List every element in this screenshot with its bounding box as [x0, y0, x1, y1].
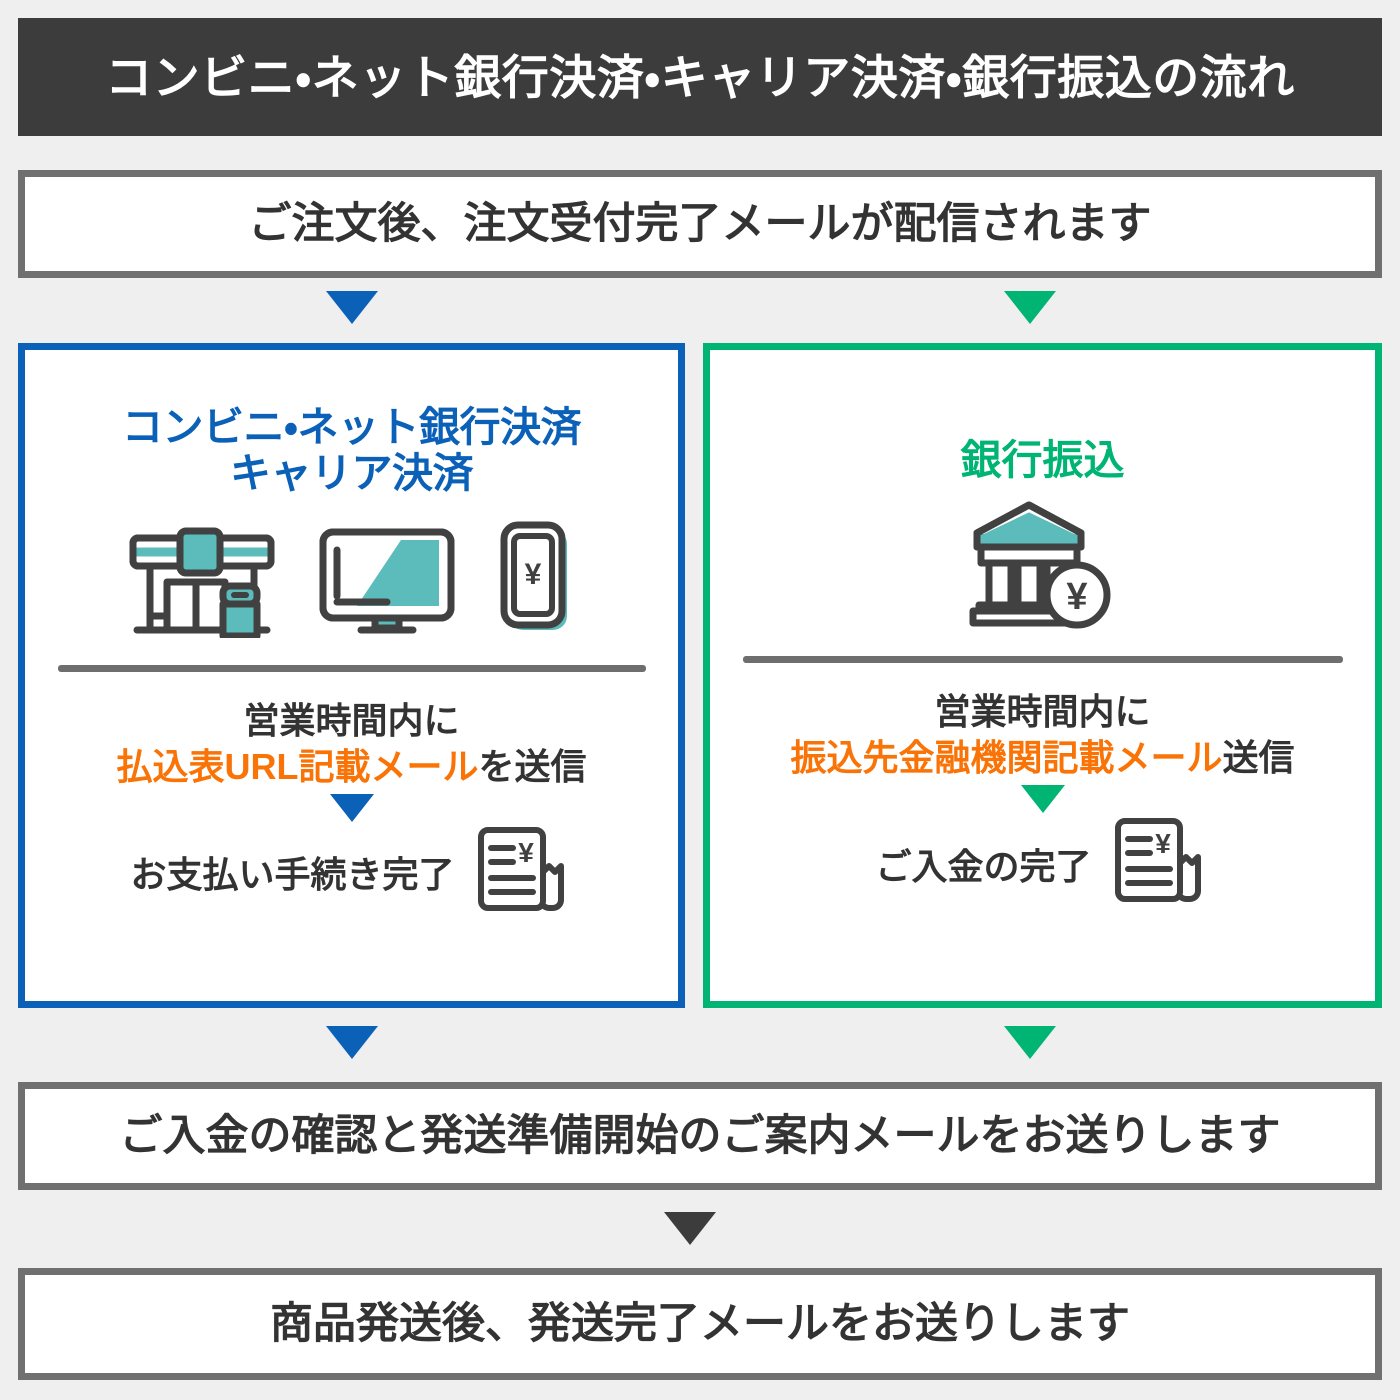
bank-yen-icon: ¥	[963, 499, 1123, 634]
panel-konbini-final-row: お支払い手続き完了 ¥	[25, 824, 678, 921]
panel-konbini-title: コンビニ・ネット銀行決済 キャリア決済	[25, 405, 678, 497]
step-payment-confirmed-box: ご入金の確認と発送準備開始のご案内メールをお送りします	[18, 1082, 1382, 1190]
panel-konbini-note: 営業時間内に 払込表URL記載メールを送信	[25, 698, 678, 790]
page-title: コンビニ・ネット銀行決済・キャリア決済・銀行振込の流れ	[105, 54, 1294, 101]
panel-furikomi-final-row: ご入金の完了 ¥	[710, 815, 1375, 912]
svg-text:¥: ¥	[518, 837, 534, 868]
payment-flow-diagram: コンビニ・ネット銀行決済・キャリア決済・銀行振込の流れ ご注文後、注文受付完了メ…	[0, 0, 1400, 1400]
step-order-email-box: ご注文後、注文受付完了メールが配信されます	[18, 170, 1382, 278]
step-payment-confirmed-label: ご入金の確認と発送準備開始のご案内メールをお送りします	[120, 1115, 1281, 1158]
svg-text:¥: ¥	[524, 558, 541, 591]
panel-konbini-final-label: お支払い手続き完了	[130, 846, 454, 898]
panel-konbini-note-line1: 営業時間内に	[243, 700, 459, 741]
desktop-monitor-icon	[317, 526, 457, 643]
receipt-yen-icon: ¥	[469, 824, 573, 921]
panel-furikomi: 銀行振込	[703, 343, 1382, 1008]
panel-furikomi-note-line1: 営業時間内に	[934, 691, 1150, 732]
convenience-store-icon	[127, 526, 277, 643]
panel-furikomi-divider	[743, 656, 1343, 663]
arrow-down-from-furikomi-icon	[1004, 1026, 1056, 1059]
arrow-down-to-furikomi-icon	[1004, 291, 1056, 324]
arrow-down-from-konbini-icon	[326, 1026, 378, 1059]
step-order-email-label: ご注文後、注文受付完了メールが配信されます	[249, 203, 1152, 246]
panel-konbini-divider	[58, 665, 646, 672]
svg-text:¥: ¥	[1066, 576, 1087, 618]
panel-furikomi-icon-row: ¥	[710, 514, 1375, 634]
panel-furikomi-title: 銀行振込	[710, 438, 1375, 484]
step-shipped-label: 商品発送後、発送完了メールをお送りします	[270, 1303, 1130, 1346]
arrow-down-to-konbini-icon	[326, 291, 378, 324]
panel-konbini-icon-row: ¥	[25, 523, 678, 643]
panel-furikomi-note-suffix: 送信	[1223, 737, 1295, 778]
smartphone-yen-icon: ¥	[497, 520, 577, 643]
arrow-down-to-shipped-icon	[664, 1212, 716, 1245]
arrow-down-konbini-inline-icon	[330, 794, 374, 822]
panel-furikomi-note: 営業時間内に 振込先金融機関記載メール送信	[710, 689, 1375, 781]
panel-konbini-note-highlight: 払込表URL記載メール	[116, 746, 478, 787]
receipt-yen-icon: ¥	[1106, 815, 1210, 912]
arrow-down-furikomi-inline-icon	[1021, 785, 1065, 813]
step-shipped-box: 商品発送後、発送完了メールをお送りします	[18, 1268, 1382, 1380]
panel-furikomi-note-highlight: 振込先金融機関記載メール	[790, 737, 1222, 778]
diagram-header: コンビニ・ネット銀行決済・キャリア決済・銀行振込の流れ	[18, 18, 1382, 136]
panel-konbini: コンビニ・ネット銀行決済 キャリア決済	[18, 343, 685, 1008]
panel-konbini-note-suffix: を送信	[478, 746, 586, 787]
svg-text:¥: ¥	[1155, 828, 1171, 859]
panel-furikomi-final-label: ご入金の完了	[875, 838, 1091, 890]
